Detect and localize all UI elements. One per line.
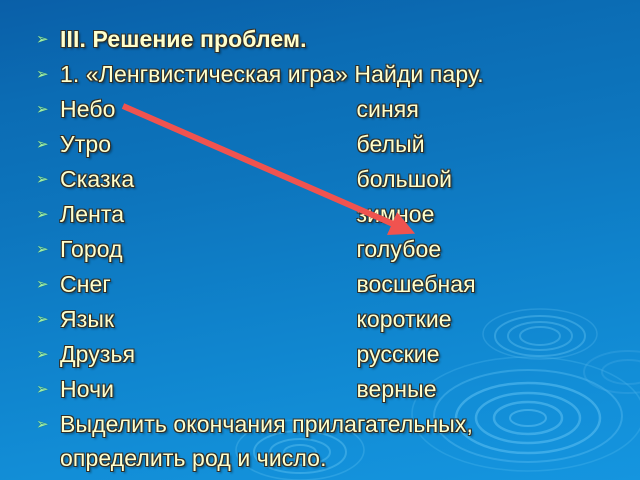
chevron-right-bullet-icon: ➢ — [36, 59, 54, 90]
chevron-right-bullet-icon: ➢ — [36, 409, 54, 440]
adjective-word: русские — [356, 339, 439, 370]
list-item-pair-7: ➢ Язык короткие — [36, 304, 636, 338]
chevron-right-bullet-icon: ➢ — [36, 24, 54, 55]
noun-word: Утро — [60, 129, 111, 160]
chevron-right-bullet-icon: ➢ — [36, 269, 54, 300]
chevron-right-bullet-icon: ➢ — [36, 374, 54, 405]
presentation-slide: ➢ III. Решение проблем. ➢ 1. «Ленгвистич… — [0, 0, 640, 480]
adjective-word: голубое — [356, 234, 441, 265]
noun-word: Язык — [60, 304, 114, 335]
noun-word: Город — [60, 234, 123, 265]
list-item-pair-9: ➢ Ночи верные — [36, 374, 636, 408]
list-item-pair-3: ➢ Сказка большой — [36, 164, 636, 198]
adjective-word: зимное — [356, 199, 434, 230]
noun-word: Друзья — [60, 339, 135, 370]
noun-word: Ночи — [60, 374, 114, 405]
heading-text: III. Решение проблем. — [60, 24, 307, 55]
adjective-word: короткие — [356, 304, 451, 335]
chevron-right-bullet-icon: ➢ — [36, 304, 54, 335]
closing-instruction-text: Выделить окончания прилагательных, опред… — [60, 411, 473, 471]
list-item-closing-instruction: ➢ Выделить окончания прилагательных, опр… — [36, 409, 480, 477]
adjective-word: верные — [356, 374, 436, 405]
list-item-pair-6: ➢ Снег восшебная — [36, 269, 636, 303]
adjective-word: восшебная — [356, 269, 475, 300]
noun-word: Снег — [60, 269, 111, 300]
slide-content: ➢ III. Решение проблем. ➢ 1. «Ленгвистич… — [0, 0, 640, 480]
chevron-right-bullet-icon: ➢ — [36, 164, 54, 195]
list-item-task: ➢ 1. «Ленгвистическая игра» Найди пару. — [36, 59, 636, 93]
adjective-word: синяя — [356, 94, 418, 125]
chevron-right-bullet-icon: ➢ — [36, 199, 54, 230]
list-item-pair-4: ➢ Лента зимное — [36, 199, 636, 233]
list-item-pair-2: ➢ Утро белый — [36, 129, 636, 163]
list-item-heading: ➢ III. Решение проблем. — [36, 24, 636, 58]
chevron-right-bullet-icon: ➢ — [36, 339, 54, 370]
noun-word: Небо — [60, 94, 116, 125]
chevron-right-bullet-icon: ➢ — [36, 234, 54, 265]
adjective-word: большой — [356, 164, 452, 195]
chevron-right-bullet-icon: ➢ — [36, 129, 54, 160]
task-text: 1. «Ленгвистическая игра» Найди пару. — [60, 59, 484, 90]
list-item-pair-1: ➢ Небо синяя — [36, 94, 636, 128]
list-item-pair-8: ➢ Друзья русские — [36, 339, 636, 373]
noun-word: Сказка — [60, 164, 134, 195]
list-item-pair-5: ➢ Город голубое — [36, 234, 636, 268]
bullet-list: ➢ III. Решение проблем. ➢ 1. «Ленгвистич… — [36, 24, 636, 478]
adjective-word: белый — [356, 129, 424, 160]
chevron-right-bullet-icon: ➢ — [36, 94, 54, 125]
noun-word: Лента — [60, 199, 124, 230]
